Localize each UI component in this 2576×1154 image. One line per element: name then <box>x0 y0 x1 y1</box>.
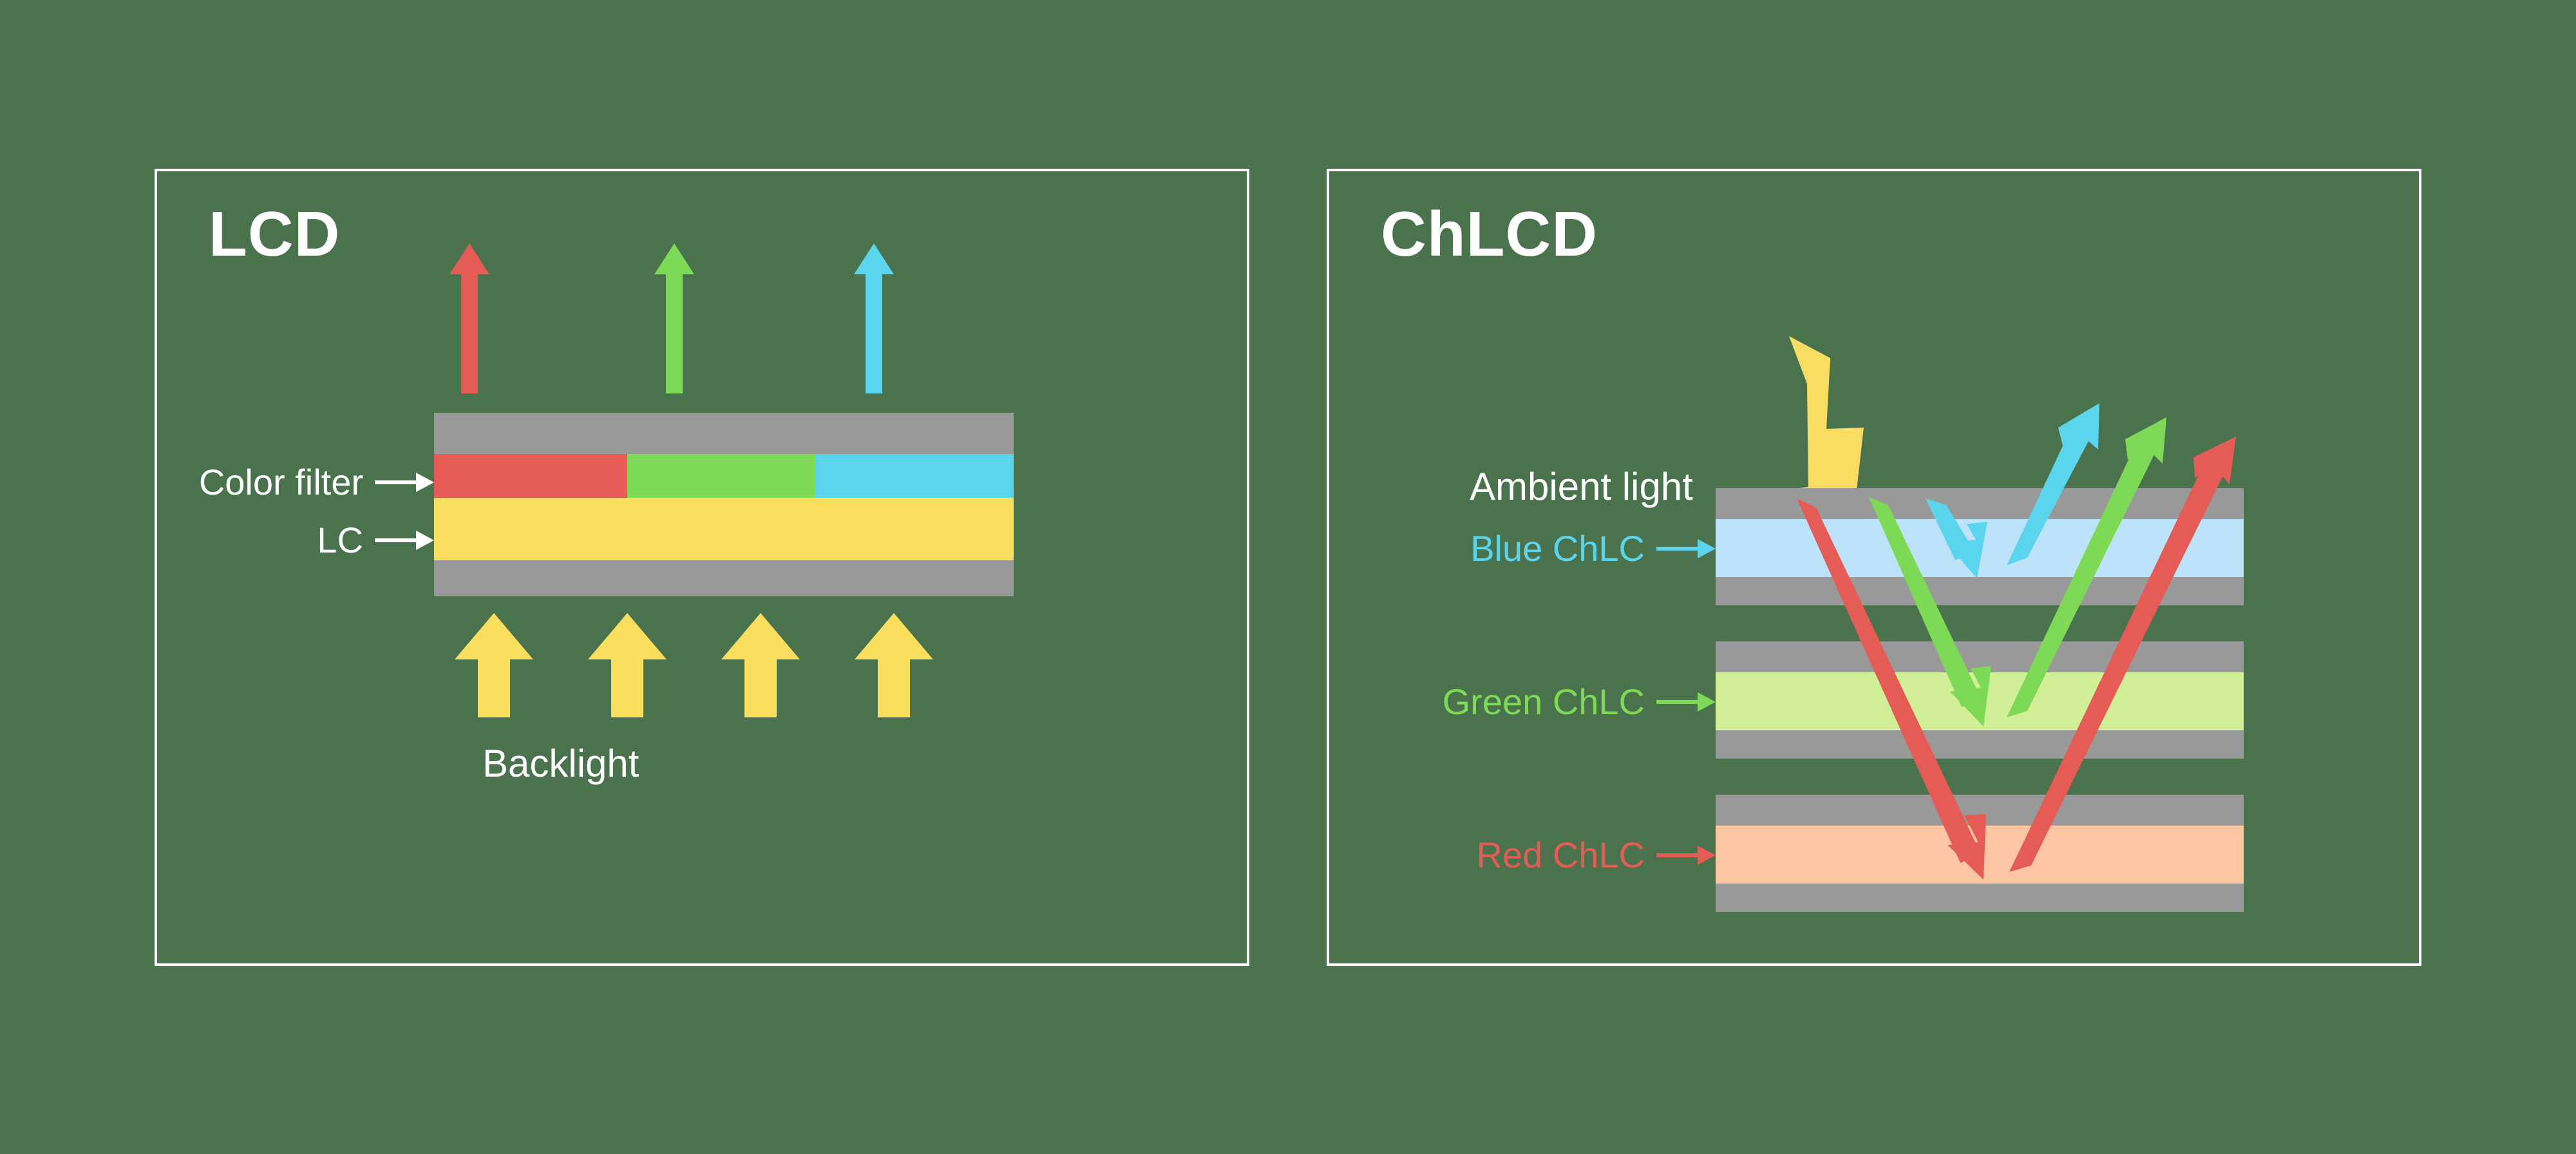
blue-chlc-label: Blue ChLC <box>1394 531 1716 567</box>
backlight-caption: Backlight <box>482 744 639 783</box>
arrow-right-icon <box>1656 699 1716 705</box>
backlight-arrow-4 <box>855 613 933 717</box>
arrow-right-icon <box>1656 853 1716 858</box>
blue-exit-arrow <box>2007 403 2099 565</box>
chlcd-panel: ChLCD Ambient light <box>1327 169 2421 966</box>
red-chlc-label: Red ChLC <box>1394 837 1716 873</box>
green-chlc-label: Green ChLC <box>1394 684 1716 720</box>
backlight-arrow-3 <box>721 613 800 717</box>
lcd-panel: LCD <box>155 169 1249 966</box>
blue-reflection-arrow <box>1926 498 1987 578</box>
arrow-right-icon <box>1656 546 1716 551</box>
backlight-arrow-1 <box>455 613 533 717</box>
diagram-canvas: LCD <box>0 0 2576 1154</box>
backlight-arrow-2 <box>588 613 667 717</box>
green-exit-arrow <box>2007 417 2166 717</box>
backlight-arrow-group <box>157 171 1252 969</box>
